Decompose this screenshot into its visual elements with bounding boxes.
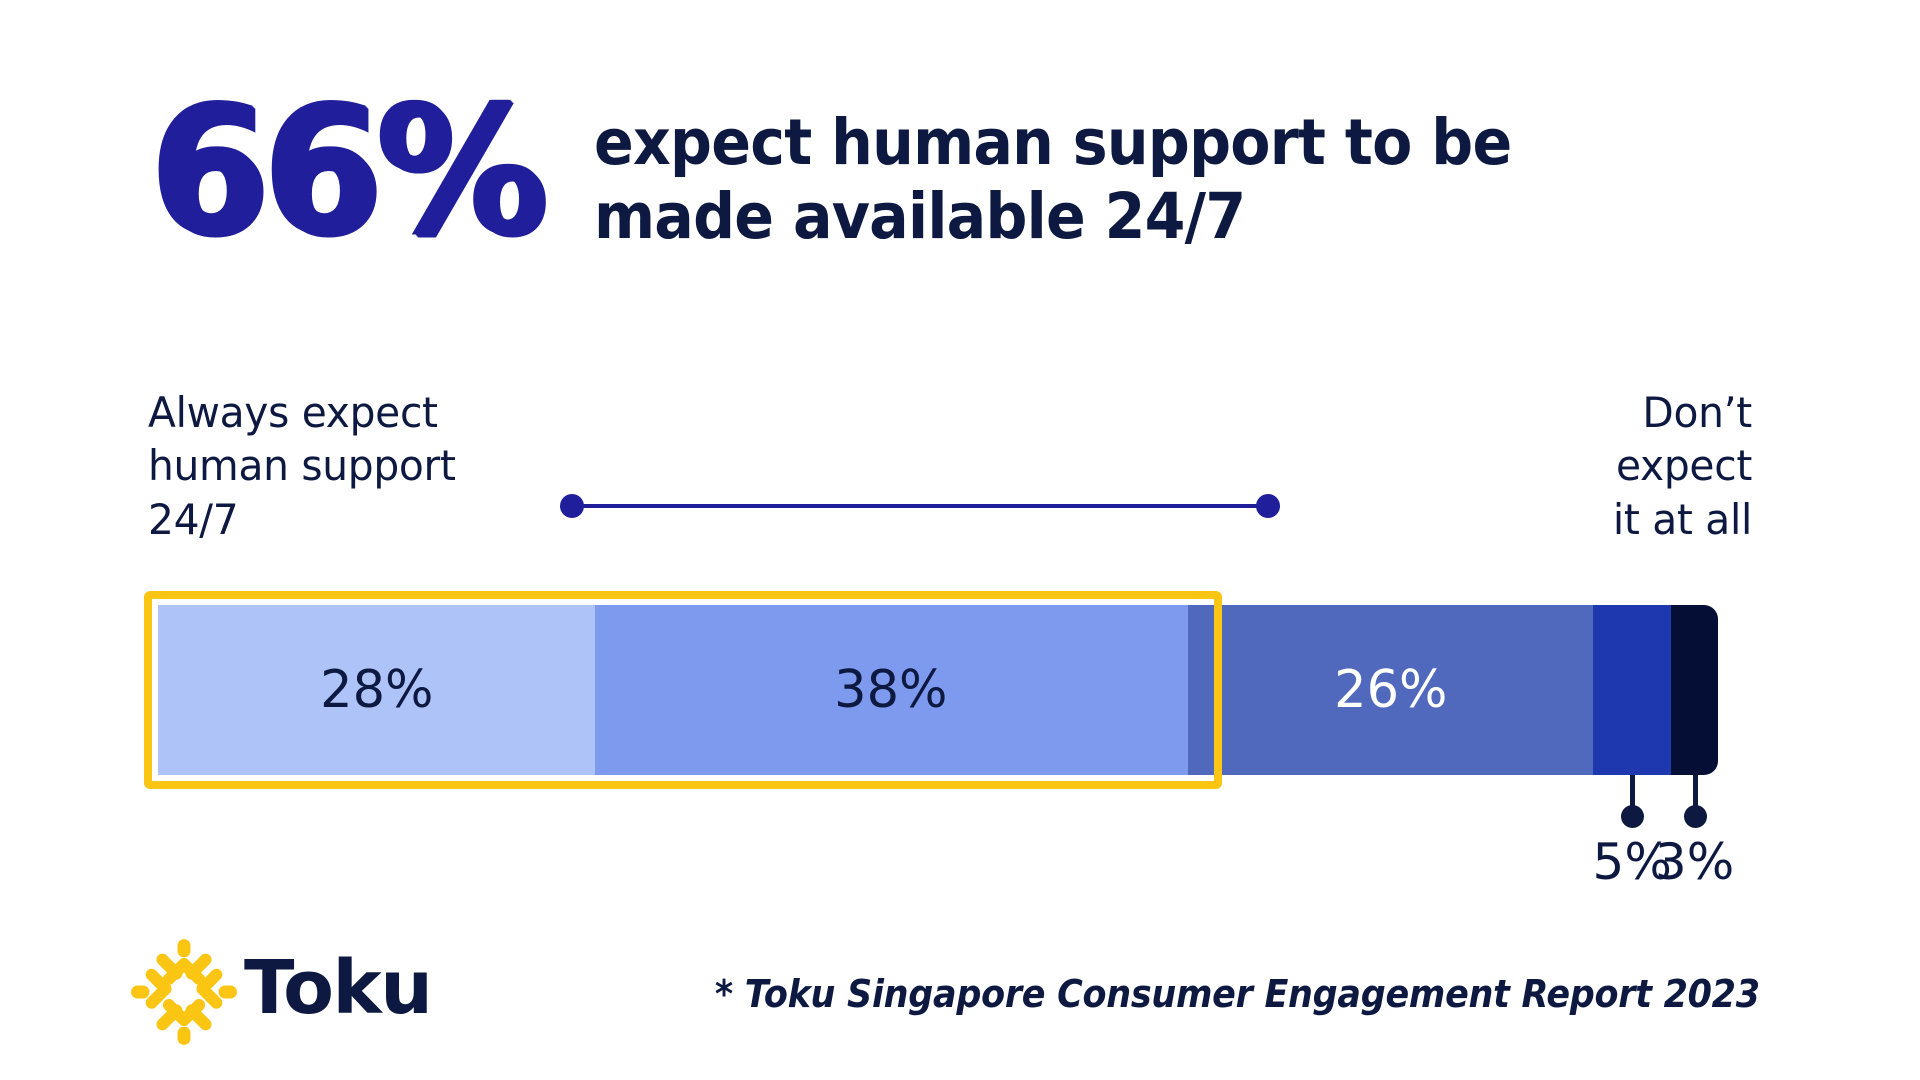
footnote: * Toku Singapore Consumer Engagement Rep… (715, 972, 1760, 1016)
bar-segment-label: 38% (835, 660, 948, 720)
scale-label-right-line-1: Don’t (1519, 386, 1752, 439)
callout-stem (1693, 775, 1698, 809)
scale-connector (560, 492, 1280, 520)
headline-line-2: made available 24/7 (594, 180, 1511, 254)
scale-label-right-line-2: expect (1519, 439, 1752, 492)
scale-label-left: Always expect human support 24/7 (148, 386, 565, 546)
bar-segment-label: 28% (320, 660, 433, 720)
infographic-canvas: 66% expect human support to be made avai… (0, 0, 1920, 1080)
bar-segment-26: 26% (1188, 605, 1594, 775)
bar-segment-28: 28% (158, 605, 595, 775)
headline: 66% expect human support to be made avai… (148, 88, 1788, 288)
headline-line-1: expect human support to be (594, 106, 1511, 179)
big-stat-value: 66% (148, 88, 540, 254)
scale-label-left-line-2: human support (148, 439, 565, 492)
bar-segment-label: 26% (1334, 660, 1447, 720)
connector-line (574, 504, 1266, 508)
stacked-bar: 28%38%26% (158, 605, 1718, 775)
scale-label-left-line-3: 24/7 (148, 493, 565, 546)
scale-label-left-line-1: Always expect (148, 386, 565, 439)
callout-dot (1621, 805, 1644, 828)
bar-segment-38: 38% (595, 605, 1188, 775)
toku-logo-mark-icon (130, 938, 238, 1046)
callout-stem (1630, 775, 1635, 809)
toku-wordmark: Toku (244, 951, 431, 1025)
scale-label-right: Don’t expect it at all (1519, 386, 1752, 546)
bar-segment-3 (1671, 605, 1718, 775)
scale-label-right-line-3: it at all (1519, 493, 1752, 546)
callout-label: 3% (1633, 833, 1757, 891)
callout-dot (1684, 805, 1707, 828)
stacked-bar-track: 28%38%26% (158, 605, 1718, 775)
toku-logo: Toku (130, 938, 431, 1046)
headline-text: expect human support to be made availabl… (594, 106, 1511, 255)
connector-dot-right (1256, 494, 1280, 518)
bar-segment-5 (1593, 605, 1671, 775)
